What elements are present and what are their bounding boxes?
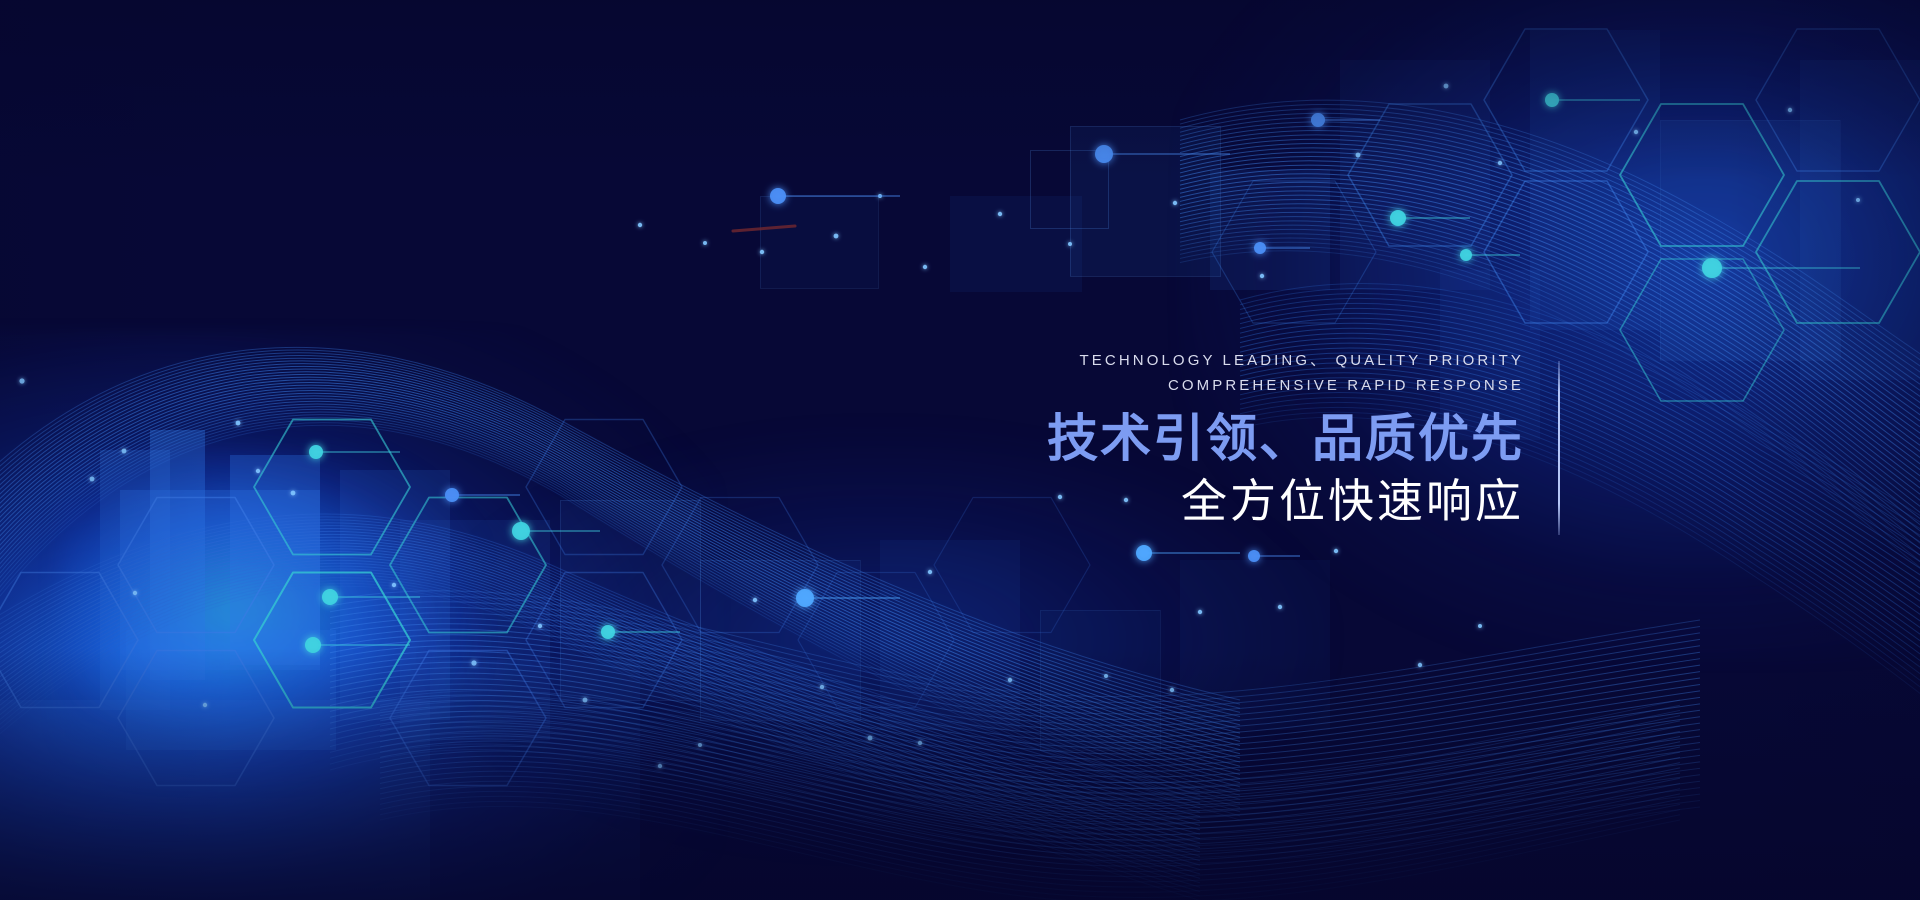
headline-divider: [1558, 361, 1560, 535]
hero-banner: TECHNOLOGY LEADING、 QUALITY PRIORITY COM…: [0, 0, 1920, 900]
chinese-headline-line-1: 技术引领、品质优先: [1016, 408, 1524, 470]
english-tagline-line-1: TECHNOLOGY LEADING、 QUALITY PRIORITY: [1016, 348, 1524, 373]
headline-block: TECHNOLOGY LEADING、 QUALITY PRIORITY COM…: [1016, 348, 1524, 530]
chinese-headline-line-2: 全方位快速响应: [1016, 472, 1524, 530]
english-tagline-line-2: COMPREHENSIVE RAPID RESPONSE: [1016, 373, 1524, 398]
vignette-overlay: [0, 0, 1920, 900]
